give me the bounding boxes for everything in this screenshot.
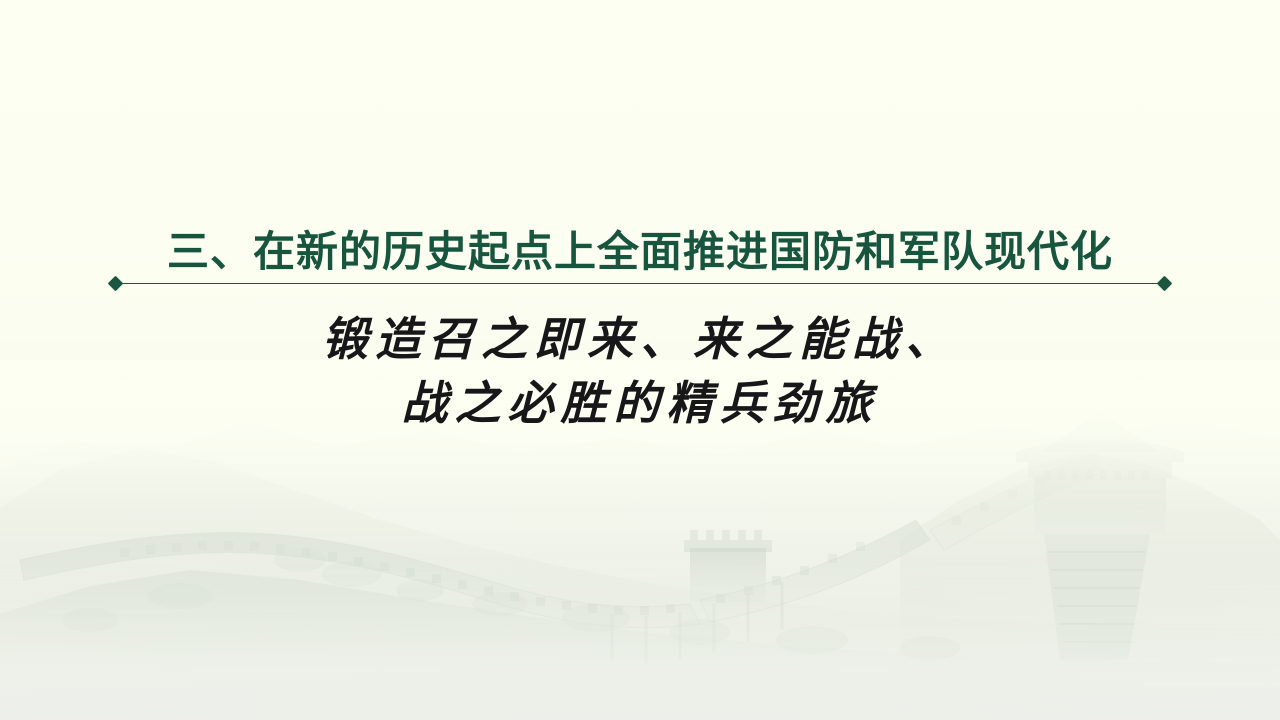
subtitle-line-1: 锻造召之即来、来之能战、 <box>0 307 1280 371</box>
diamond-right-icon <box>1157 276 1173 292</box>
heading-divider <box>110 276 1170 292</box>
slide-subtitle: 锻造召之即来、来之能战、 战之必胜的精兵劲旅 <box>0 307 1280 435</box>
presentation-slide: 三、在新的历史起点上全面推进国防和军队现代化 锻造召之即来、来之能战、 战之必胜… <box>0 0 1280 720</box>
slide-heading: 三、在新的历史起点上全面推进国防和军队现代化 <box>0 226 1280 278</box>
divider-rule <box>118 283 1162 284</box>
subtitle-line-2: 战之必胜的精兵劲旅 <box>0 371 1280 435</box>
